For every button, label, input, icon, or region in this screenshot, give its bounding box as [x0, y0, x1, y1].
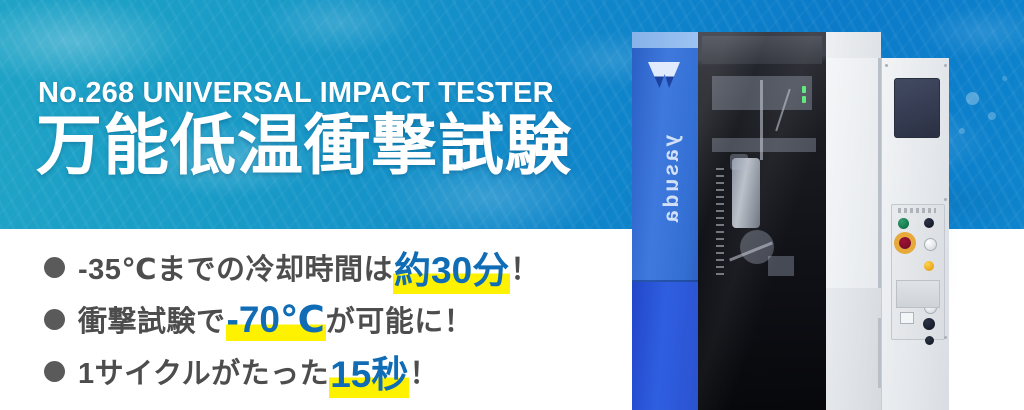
pillar-lower-panel — [632, 282, 698, 410]
feature-lead-text: 1サイクルがたった — [78, 350, 329, 392]
screw-icon — [944, 336, 947, 339]
pillar-top-band — [632, 32, 698, 48]
start-button[interactable] — [898, 218, 909, 229]
filled-circle-bullet-icon — [44, 309, 65, 330]
stop-button[interactable] — [924, 218, 934, 228]
brand-logo-text: yasuda — [660, 90, 684, 270]
feature-tail-text: ！ — [409, 350, 439, 392]
feature-tail-text: が可能に！ — [326, 298, 474, 340]
label-plate — [896, 280, 940, 308]
feature-tail-text: ！ — [510, 246, 540, 288]
feature-highlight-text: 約30分 — [393, 240, 510, 294]
bubble-icon — [1002, 76, 1007, 81]
feature-list: -35℃までの冷却時間は 約30分 ！ 衝撃試験で -70℃ が可能に！ 1サイ… — [44, 244, 604, 400]
list-item: -35℃までの冷却時間は 約30分 ！ — [44, 244, 604, 290]
product-eyebrow-title: No.268 UNIVERSAL IMPACT TESTER — [38, 77, 554, 110]
screw-icon — [944, 198, 947, 201]
key-switch[interactable] — [923, 318, 935, 330]
white-cabinet-door — [826, 58, 881, 288]
glass-reflection — [698, 32, 826, 410]
bubble-icon — [988, 112, 996, 120]
list-item: 1サイクルがたった 15秒 ！ — [44, 348, 604, 394]
filled-circle-bullet-icon — [44, 361, 65, 382]
panel-label-text — [898, 208, 936, 213]
alarm-indicator[interactable] — [924, 261, 934, 271]
feature-lead-text: 衝撃試験で — [78, 298, 226, 340]
product-photo: yasuda — [632, 18, 948, 410]
reset-button[interactable] — [924, 238, 937, 251]
emergency-stop-button[interactable] — [899, 237, 911, 249]
key-switch-slot[interactable] — [900, 312, 914, 324]
feature-highlight-text: 15秒 — [329, 344, 409, 398]
page-title: 万能低温衝撃試験 — [36, 112, 572, 178]
filled-circle-bullet-icon — [44, 257, 65, 278]
control-terminal-display[interactable] — [894, 78, 940, 138]
bubble-icon — [966, 92, 979, 105]
feature-lead-text: -35℃までの冷却時間は — [78, 246, 393, 288]
list-item: 衝撃試験で -70℃ が可能に！ — [44, 296, 604, 342]
feature-highlight-text: -70℃ — [226, 298, 326, 341]
screw-icon — [944, 64, 947, 67]
port-connector[interactable] — [925, 336, 934, 345]
promo-banner: No.268 UNIVERSAL IMPACT TESTER 万能低温衝撃試験 … — [0, 0, 1024, 410]
bubble-icon — [959, 128, 965, 134]
screw-icon — [885, 64, 888, 67]
